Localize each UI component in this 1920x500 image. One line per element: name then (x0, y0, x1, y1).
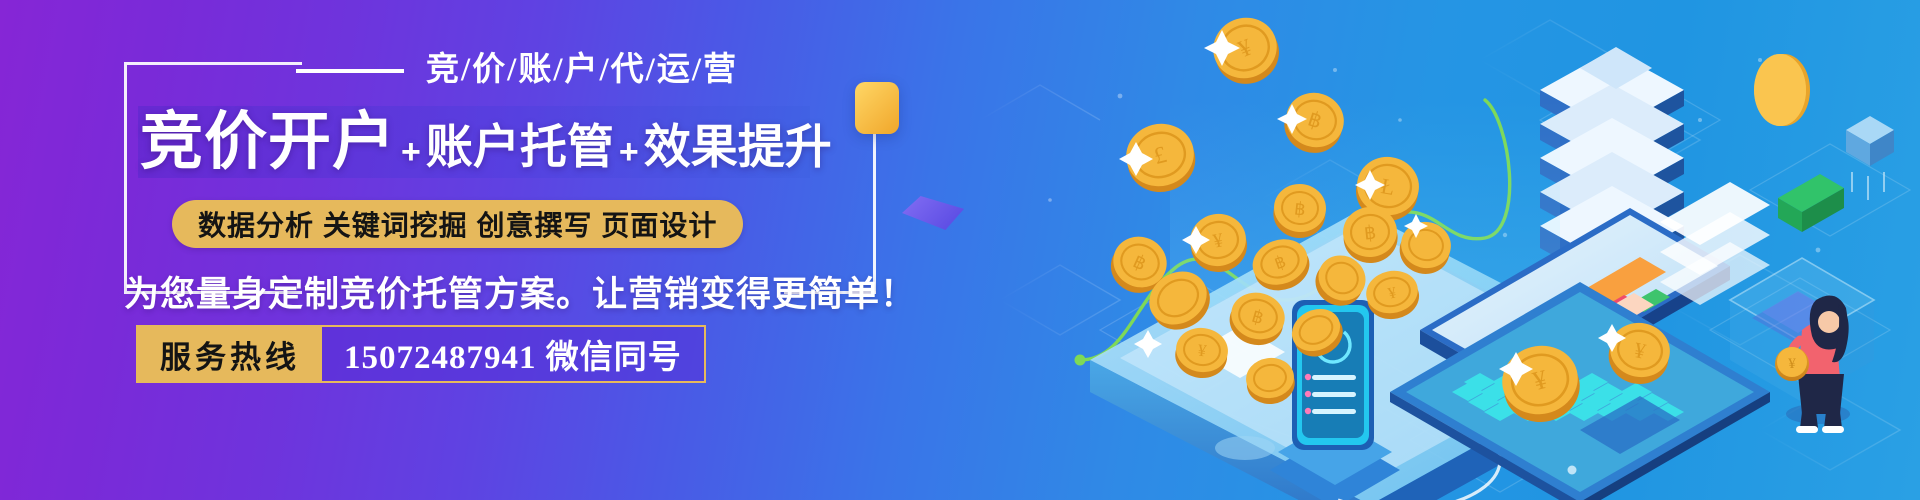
green-card (1778, 174, 1844, 232)
headline-part-2: 账户托管 (426, 109, 614, 185)
subtitle-text: 为您量身定制竞价托管方案。让营销变得更简单！ (124, 266, 916, 317)
headline-part-1: 竞价开户 (140, 104, 396, 180)
promo-banner: 竞/价/账/户/代/运/营 竞价开户 + 账户托管 + 效果提升 数据分析 关键… (0, 0, 1920, 500)
tagline-rule (296, 69, 404, 73)
services-pill[interactable]: 数据分析 关键词挖掘 创意撰写 页面设计 (172, 200, 743, 248)
svg-text:฿: ฿ (1293, 198, 1306, 219)
headline: 竞价开户 + 账户托管 + 效果提升 (140, 104, 832, 190)
tagline-text: 竞/价/账/户/代/运/营 (426, 48, 738, 92)
tagline-row: 竞/价/账/户/代/运/营 (296, 48, 738, 92)
chart-start-dot (1075, 355, 1086, 366)
banner-content: 竞/价/账/户/代/运/营 竞价开户 + 账户托管 + 效果提升 数据分析 关键… (0, 0, 1000, 500)
floating-gold-block (855, 82, 899, 134)
services-pill-text: 数据分析 关键词挖掘 创意撰写 页面设计 (198, 204, 717, 244)
svg-text:฿: ฿ (1363, 222, 1377, 244)
headline-part-3: 效果提升 (644, 109, 832, 185)
headline-plus-1: + (396, 114, 426, 190)
hotline-bar[interactable]: 服务热线 15072487941 微信同号 (136, 325, 706, 383)
hotline-label: 服务热线 (138, 327, 322, 381)
isometric-illustration: ¥ ¥ ฿ £ (940, 0, 1920, 500)
headline-plus-2: + (614, 114, 644, 190)
svg-text:¥: ¥ (1788, 356, 1796, 372)
hotline-value[interactable]: 15072487941 微信同号 (322, 327, 704, 381)
